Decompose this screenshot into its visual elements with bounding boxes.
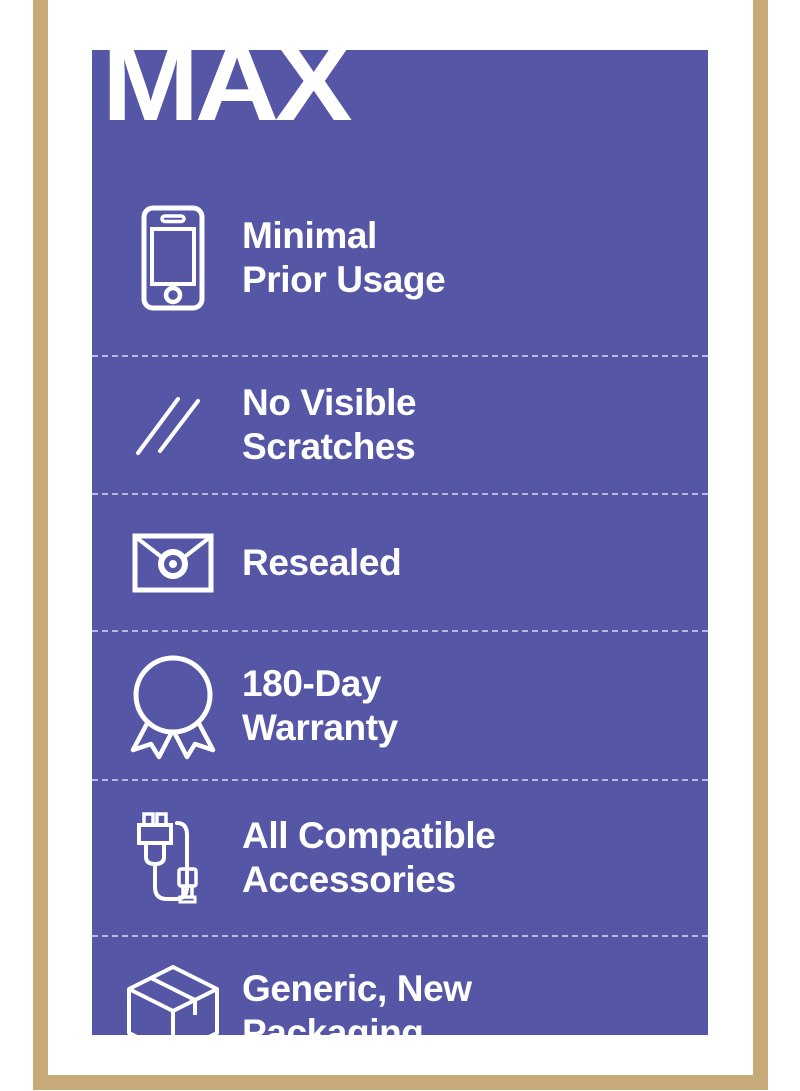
smartphone-icon xyxy=(92,205,242,311)
feature-label: Resealed xyxy=(242,541,708,585)
feature-card: MAX Minimal Prior Usage xyxy=(92,50,708,1035)
feature-label: No Visible Scratches xyxy=(242,381,708,469)
sealed-envelope-icon xyxy=(92,533,242,593)
award-ribbon-icon xyxy=(92,654,242,758)
usb-cable-icon xyxy=(92,809,242,907)
feature-label: Minimal Prior Usage xyxy=(242,214,708,302)
feature-label: 180-Day Warranty xyxy=(242,662,708,750)
feature-row: Generic, New Packaging xyxy=(92,935,708,1035)
feature-row: All Compatible Accessories xyxy=(92,779,708,935)
feature-row: Resealed xyxy=(92,493,708,630)
brand-wordmark: MAX xyxy=(102,50,348,137)
feature-label: All Compatible Accessories xyxy=(242,814,708,902)
feature-row: Minimal Prior Usage xyxy=(92,160,708,355)
feature-row: No Visible Scratches xyxy=(92,355,708,493)
feature-list: Minimal Prior Usage No Visible Scratches xyxy=(92,160,708,1035)
scratch-lines-icon xyxy=(92,389,242,461)
feature-label: Generic, New Packaging xyxy=(242,967,708,1035)
package-box-icon xyxy=(92,963,242,1035)
feature-row: 180-Day Warranty xyxy=(92,630,708,779)
poster-canvas: MAX Minimal Prior Usage xyxy=(0,0,800,1091)
